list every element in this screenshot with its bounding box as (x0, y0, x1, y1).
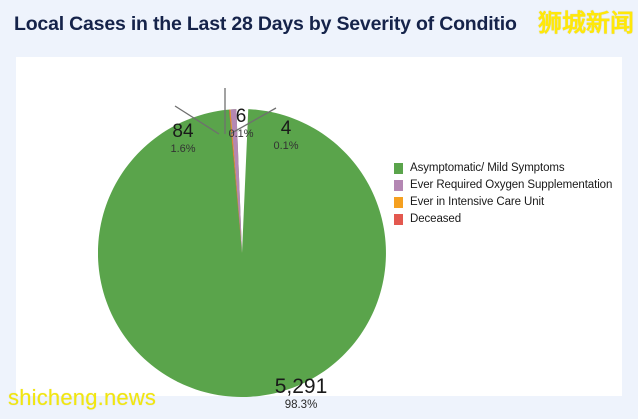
callout-percent: 1.6% (155, 142, 211, 156)
legend-swatch-icon (394, 163, 403, 174)
slice-label-percent: 98.3% (256, 398, 346, 412)
watermark-site: shicheng.news (8, 385, 156, 411)
legend-item-label: Ever Required Oxygen Supplementation (410, 179, 612, 191)
legend-item-icu[interactable]: Ever in Intensive Care Unit (394, 194, 634, 211)
callout-percent: 0.1% (258, 139, 314, 153)
legend-item-label: Asymptomatic/ Mild Symptoms (410, 162, 565, 174)
slice-label-asymptomatic: 5,291 98.3% (256, 375, 346, 412)
legend-item-asymptomatic[interactable]: Asymptomatic/ Mild Symptoms (394, 160, 634, 177)
legend-swatch-icon (394, 214, 403, 225)
legend-swatch-icon (394, 197, 403, 208)
pie-chart (98, 109, 386, 397)
page-title: Local Cases in the Last 28 Days by Sever… (14, 10, 614, 40)
legend-item-deceased[interactable]: Deceased (394, 211, 634, 228)
pie-svg (98, 109, 386, 397)
slice-label-value: 5,291 (256, 375, 346, 398)
chart-screenshot: Local Cases in the Last 28 Days by Sever… (0, 0, 638, 419)
callout-value: 84 (155, 122, 211, 142)
callout-oxygen: 84 1.6% (155, 122, 211, 156)
legend-item-oxygen[interactable]: Ever Required Oxygen Supplementation (394, 177, 634, 194)
watermark-chinese: 狮城新闻 (538, 9, 634, 39)
chart-legend: Asymptomatic/ Mild Symptoms Ever Require… (394, 160, 634, 228)
callout-value: 4 (258, 119, 314, 139)
legend-swatch-icon (394, 180, 403, 191)
chart-panel: 84 1.6% 6 0.1% 4 0.1% 5,291 98.3% Asympt… (16, 57, 622, 396)
legend-item-label: Deceased (410, 213, 461, 225)
pie-slice-asymptomatic[interactable] (98, 109, 386, 397)
legend-item-label: Ever in Intensive Care Unit (410, 196, 544, 208)
callout-deceased: 4 0.1% (258, 119, 314, 153)
